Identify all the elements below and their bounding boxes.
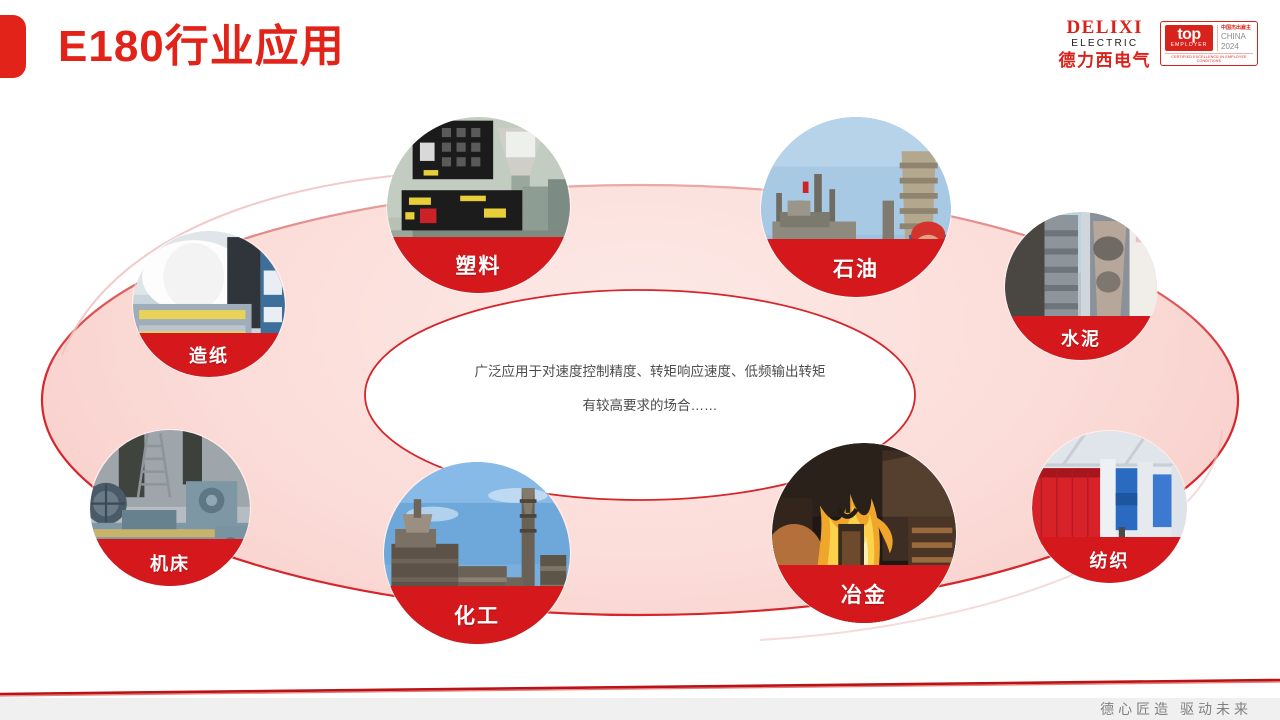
node-label-petroleum: 石油 (761, 239, 951, 297)
node-label-chemical: 化工 (384, 586, 570, 644)
slide-root: E180行业应用 DELIXI ELECTRIC 德力西电气 top EMPLO… (0, 0, 1280, 720)
node-machinetool[interactable]: 机床 (90, 430, 250, 586)
node-metallurgy[interactable]: 冶金 (772, 443, 956, 623)
footer-strip (0, 698, 1280, 720)
node-label-textile: 纺织 (1032, 537, 1187, 583)
center-description-line1: 广泛应用于对速度控制精度、转矩响应速度、低频输出转矩 (400, 355, 900, 389)
footer-tagline: 德心匠造 驱动未来 (1100, 699, 1252, 719)
center-description-line2: 有较高要求的场合…… (400, 389, 900, 423)
node-papermaking[interactable]: 造纸 (133, 231, 285, 377)
node-petroleum[interactable]: 石油 (761, 117, 951, 297)
center-description: 广泛应用于对速度控制精度、转矩响应速度、低频输出转矩 有较高要求的场合…… (400, 355, 900, 423)
node-label-machinetool: 机床 (90, 539, 250, 586)
node-chemical[interactable]: 化工 (384, 462, 570, 644)
node-plastics[interactable]: 塑料 (387, 117, 570, 293)
node-label-metallurgy: 冶金 (772, 565, 956, 623)
node-label-cement: 水泥 (1005, 316, 1157, 360)
node-label-papermaking: 造纸 (133, 333, 285, 377)
node-cement[interactable]: 水泥 (1005, 212, 1157, 360)
node-label-plastics: 塑料 (387, 237, 570, 293)
node-textile[interactable]: 纺织 (1032, 431, 1187, 583)
footer-divider (0, 674, 1280, 698)
